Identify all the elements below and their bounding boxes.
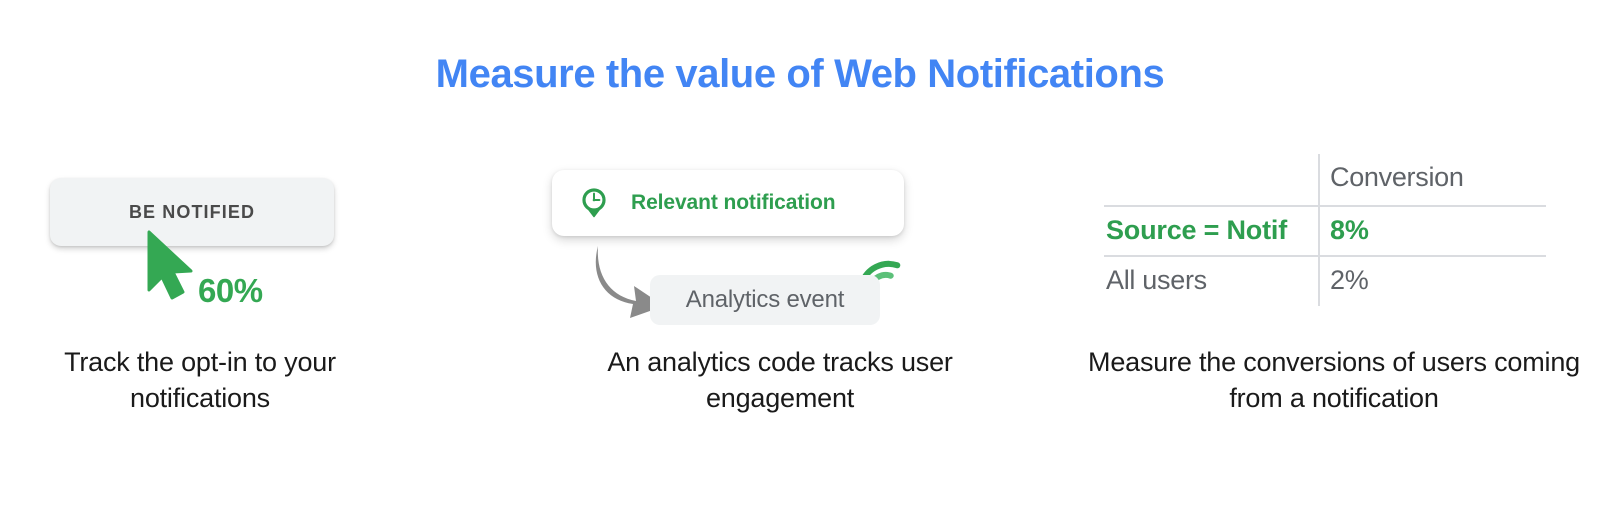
conversion-caption: Measure the conversions of users coming … [1084,345,1584,417]
table-header-conversion: Conversion [1298,162,1464,193]
row-label-source-notif: Source = Notif [1086,215,1298,246]
be-notified-label: BE NOTIFIED [129,202,255,223]
clock-pin-icon [578,187,610,219]
opt-in-caption: Track the opt-in to your notifications [0,345,400,417]
row-label-all-users: All users [1086,265,1298,296]
table-row: All users 2% [1086,255,1546,305]
analytics-visual: Relevant notification Analytics event [533,150,1066,345]
table-divider [1104,205,1546,207]
panel-analytics: Relevant notification Analytics event [533,150,1066,417]
panels-container: BE NOTIFIED 60% Track the opt-in to your… [0,150,1600,417]
panel-conversion: Conversion Source = Notif 8% All users 2… [1066,150,1599,417]
row-value-source-notif: 8% [1298,215,1369,246]
table-column-divider [1318,154,1320,306]
relevant-notification-card[interactable]: Relevant notification [552,170,904,236]
table-header-row: Conversion [1086,150,1546,205]
relevant-notification-label: Relevant notification [631,191,835,215]
panel-opt-in: BE NOTIFIED 60% Track the opt-in to your… [0,150,533,417]
conversion-visual: Conversion Source = Notif 8% All users 2… [1066,150,1599,345]
table-row: Source = Notif 8% [1086,205,1546,255]
analytics-event-chip[interactable]: Analytics event [650,275,880,325]
conversion-table: Conversion Source = Notif 8% All users 2… [1086,150,1546,340]
cursor-arrow-icon [145,230,203,307]
opt-in-rate-value: 60% [198,272,263,310]
analytics-event-label: Analytics event [686,286,844,314]
opt-in-visual: BE NOTIFIED 60% [0,150,533,345]
page-title: Measure the value of Web Notifications [0,52,1600,96]
row-value-all-users: 2% [1298,265,1368,296]
analytics-caption: An analytics code tracks user engagement [545,345,1015,417]
table-divider [1104,255,1546,257]
